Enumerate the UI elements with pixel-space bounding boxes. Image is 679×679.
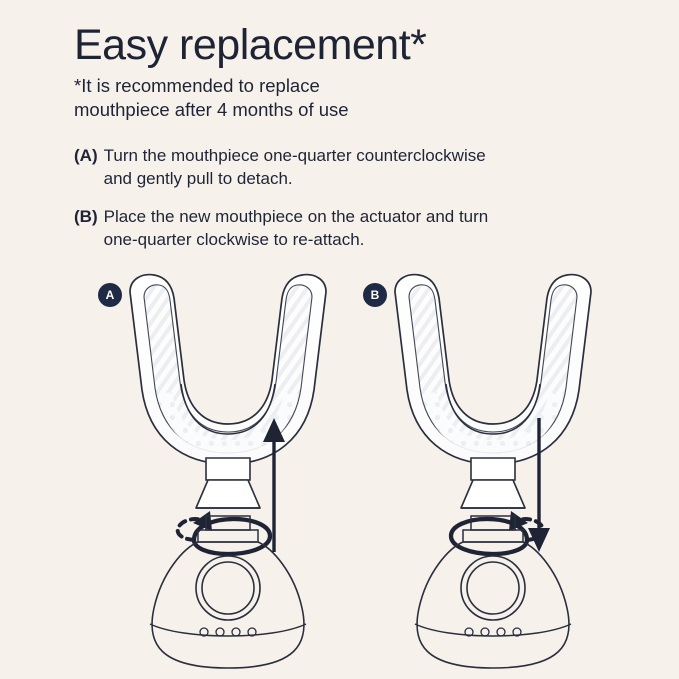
diagram-panel-b: B	[353, 268, 633, 679]
subtitle-line-2: mouthpiece after 4 months of use	[74, 99, 349, 120]
step-text-a: Turn the mouthpiece one-quarter counterc…	[104, 144, 504, 191]
step-item-b: (B) Place the new mouthpiece on the actu…	[74, 205, 614, 252]
arrow-up-icon	[263, 418, 285, 552]
text-block: Easy replacement* *It is recommended to …	[74, 22, 614, 266]
rotate-clockwise-icon	[451, 511, 543, 554]
page-title: Easy replacement*	[74, 22, 614, 68]
diagram-panel-a: A	[88, 268, 368, 679]
actuator-base-group	[150, 516, 306, 668]
rotate-counterclockwise-icon	[178, 511, 270, 554]
mouthpiece-group	[130, 275, 326, 464]
subtitle-line-1: *It is recommended to replace	[74, 75, 320, 96]
easy-replacement-infographic: Easy replacement* *It is recommended to …	[0, 0, 679, 679]
page-subtitle: *It is recommended to replace mouthpiece…	[74, 74, 434, 121]
power-button	[461, 556, 525, 620]
step-label-a: (A)	[74, 144, 98, 167]
step-label-b: (B)	[74, 205, 98, 228]
actuator-base-group	[415, 516, 571, 668]
power-button	[196, 556, 260, 620]
mouthpiece-stem-group	[461, 458, 525, 508]
steps-list: (A) Turn the mouthpiece one-quarter coun…	[74, 144, 614, 252]
mouthpiece-stem-group	[196, 458, 260, 508]
diagram-area: A	[0, 268, 679, 679]
panel-b-illustration	[353, 268, 633, 679]
step-item-a: (A) Turn the mouthpiece one-quarter coun…	[74, 144, 614, 191]
step-text-b: Place the new mouthpiece on the actuator…	[104, 205, 504, 252]
mouthpiece-group	[395, 275, 591, 464]
panel-a-illustration	[88, 268, 368, 679]
